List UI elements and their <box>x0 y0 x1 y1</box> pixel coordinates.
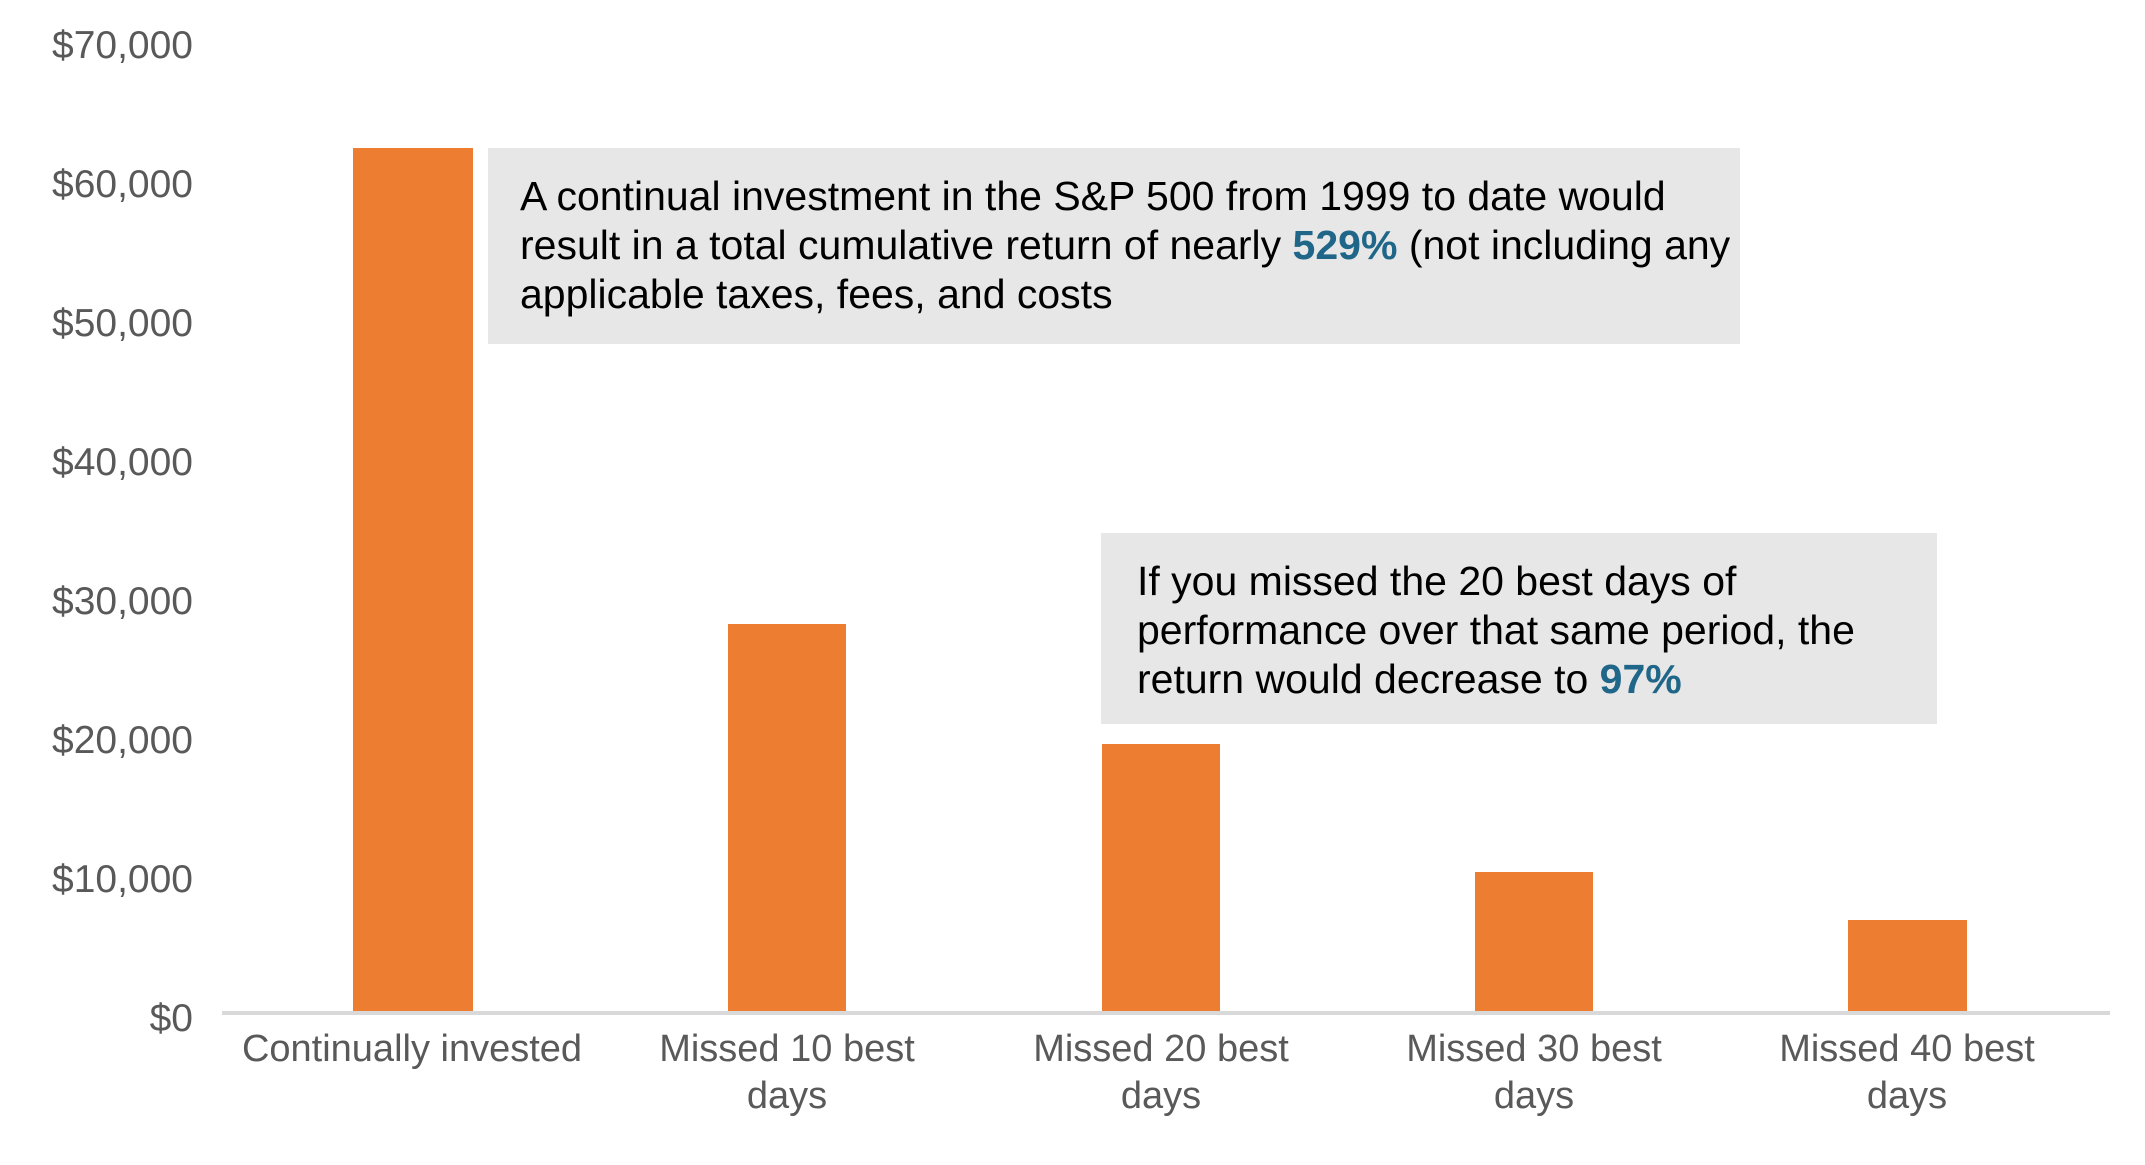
x-tick-label-missed-10-best-days: Missed 10 best days <box>622 1026 952 1120</box>
y-tick-label: $30,000 <box>0 582 193 621</box>
bar-missed-30-best-days <box>1475 872 1593 1014</box>
annotation-callout-missed-20-days: If you missed the 20 best days of perfor… <box>1101 533 1937 724</box>
y-tick-label: $60,000 <box>0 165 193 204</box>
bar-missed-10-best-days <box>728 624 846 1014</box>
annotation-highlight-97: 97% <box>1600 656 1682 702</box>
bar-missed-40-best-days <box>1848 920 1967 1014</box>
y-tick-label: $0 <box>0 999 193 1038</box>
y-tick-label: $20,000 <box>0 721 193 760</box>
annotation-text-before: If you missed the 20 best days of perfor… <box>1137 558 1855 702</box>
bar-missed-20-best-days <box>1102 744 1220 1014</box>
bar-chart: $70,000 $60,000 $50,000 $40,000 $30,000 … <box>0 0 2145 1165</box>
y-axis: $70,000 $60,000 $50,000 $40,000 $30,000 … <box>0 0 193 1165</box>
x-tick-label-continually-invested: Continually invested <box>192 1026 632 1073</box>
annotation-highlight-529: 529% <box>1293 222 1398 268</box>
bar-continually-invested <box>353 148 473 1014</box>
x-tick-label-missed-20-best-days: Missed 20 best days <box>996 1026 1326 1120</box>
x-axis-line <box>222 1011 2110 1015</box>
annotation-text: A continual investment in the S&P 500 fr… <box>520 172 1740 319</box>
y-tick-label: $10,000 <box>0 860 193 899</box>
y-tick-label: $50,000 <box>0 304 193 343</box>
y-tick-label: $70,000 <box>0 26 193 65</box>
x-tick-label-missed-30-best-days: Missed 30 best days <box>1369 1026 1699 1120</box>
x-tick-label-missed-40-best-days: Missed 40 best days <box>1742 1026 2072 1120</box>
annotation-callout-continual-investment: A continual investment in the S&P 500 fr… <box>488 148 1740 344</box>
annotation-text: If you missed the 20 best days of perfor… <box>1137 557 1937 704</box>
y-tick-label: $40,000 <box>0 443 193 482</box>
x-axis: Continually invested Missed 10 best days… <box>222 1026 2112 1156</box>
